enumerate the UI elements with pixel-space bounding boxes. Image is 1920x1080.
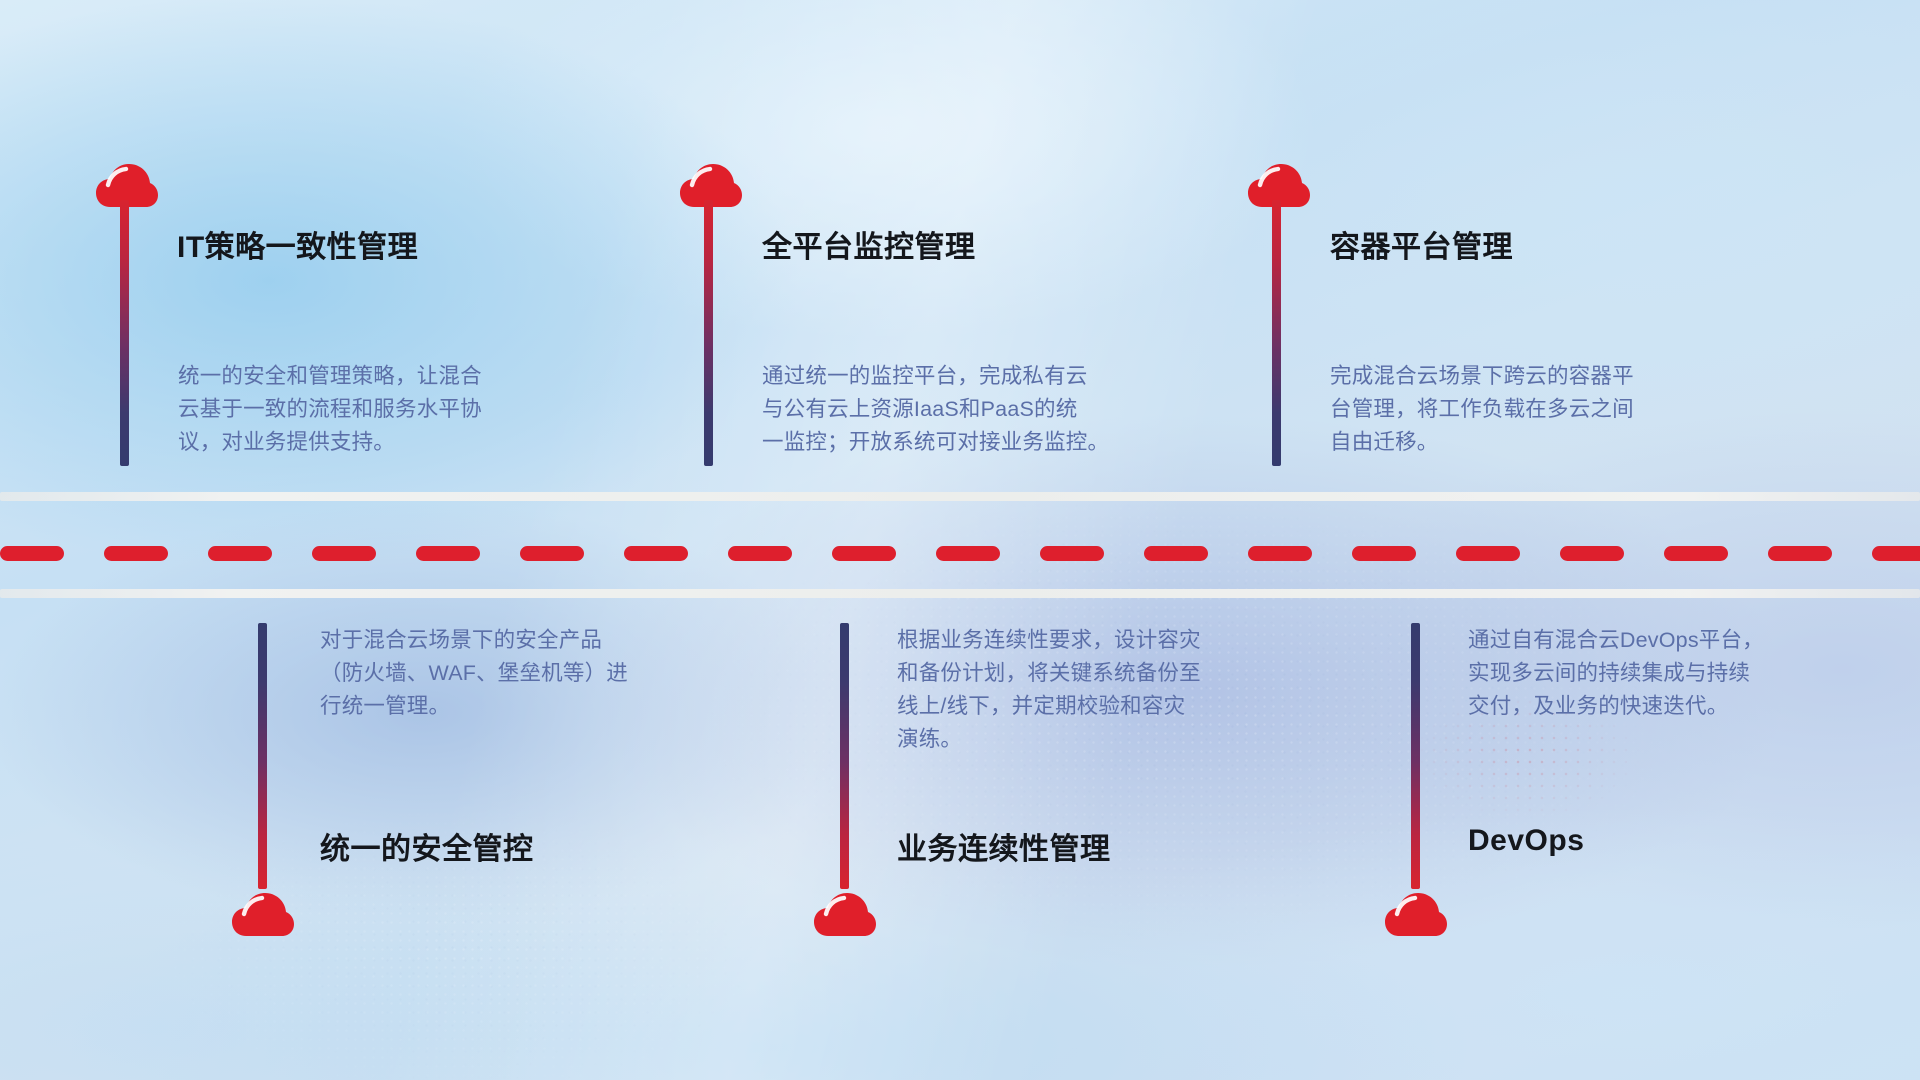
- road-dash: [104, 546, 168, 561]
- card-body-line: 线上/线下，并定期校验和容灾: [897, 690, 1347, 723]
- card-body-line: 对于混合云场景下的安全产品: [320, 624, 750, 657]
- road-dash: [624, 546, 688, 561]
- card-stem-bar: [1411, 623, 1420, 889]
- card-title: DevOps: [1468, 824, 1584, 858]
- card-body-line: 一监控；开放系统可对接业务监控。: [762, 426, 1222, 459]
- card-body: 对于混合云场景下的安全产品 （防火墙、WAF、堡垒机等）进 行统一管理。: [320, 624, 750, 723]
- road-dash: [936, 546, 1000, 561]
- road-dash: [1352, 546, 1416, 561]
- card-title: 业务连续性管理: [897, 824, 1111, 868]
- card-full-platform-monitoring: 全平台监控管理 通过统一的监控平台，完成私有云 与公有云上资源IaaS和PaaS…: [640, 0, 1280, 492]
- road-dash: [1664, 546, 1728, 561]
- card-unified-security: 对于混合云场景下的安全产品 （防火墙、WAF、堡垒机等）进 行统一管理。 统一的…: [0, 589, 740, 989]
- card-stem-bar: [258, 623, 267, 889]
- card-body-line: 行统一管理。: [320, 690, 750, 723]
- card-body-line: 台管理，将工作负载在多云之间: [1330, 393, 1770, 426]
- card-body-line: 通过自有混合云DevOps平台，: [1468, 624, 1908, 657]
- cloud-icon: [1385, 892, 1447, 938]
- road-dash: [1248, 546, 1312, 561]
- card-body-line: 实现多云间的持续集成与持续: [1468, 657, 1908, 690]
- card-body-line: 交付，及业务的快速迭代。: [1468, 690, 1908, 723]
- card-title: 容器平台管理: [1330, 222, 1513, 266]
- card-stem-bar: [120, 200, 129, 466]
- card-container-platform: 容器平台管理 完成混合云场景下跨云的容器平 台管理，将工作负载在多云之间 自由迁…: [1210, 0, 1920, 492]
- card-body: 根据业务连续性要求，设计容灾 和备份计划，将关键系统备份至 线上/线下，并定期校…: [897, 624, 1347, 756]
- card-body-line: （防火墙、WAF、堡垒机等）进: [320, 657, 750, 690]
- card-business-continuity: 根据业务连续性要求，设计容灾 和备份计划，将关键系统备份至 线上/线下，并定期校…: [740, 589, 1380, 989]
- road-dash: [1040, 546, 1104, 561]
- card-body-line: 与公有云上资源IaaS和PaaS的统: [762, 393, 1222, 426]
- card-body-line: 演练。: [897, 723, 1347, 756]
- card-stem-bar: [704, 200, 713, 466]
- card-body-line: 根据业务连续性要求，设计容灾: [897, 624, 1347, 657]
- card-body-line: 通过统一的监控平台，完成私有云: [762, 360, 1222, 393]
- card-body-line: 完成混合云场景下跨云的容器平: [1330, 360, 1770, 393]
- road-center-dashes: [0, 545, 1920, 561]
- road-dash: [312, 546, 376, 561]
- card-body-line: 统一的安全和管理策略，让混合: [178, 360, 618, 393]
- road-edge-upper: [0, 492, 1920, 501]
- card-stem-bar: [1272, 200, 1281, 466]
- road-dash: [1560, 546, 1624, 561]
- card-body-line: 自由迁移。: [1330, 426, 1770, 459]
- card-title: 统一的安全管控: [320, 824, 534, 868]
- road-dash: [0, 546, 64, 561]
- card-body-line: 和备份计划，将关键系统备份至: [897, 657, 1347, 690]
- card-body: 完成混合云场景下跨云的容器平 台管理，将工作负载在多云之间 自由迁移。: [1330, 360, 1770, 459]
- road-dash: [832, 546, 896, 561]
- card-body: 通过统一的监控平台，完成私有云 与公有云上资源IaaS和PaaS的统 一监控；开…: [762, 360, 1222, 459]
- road-dash: [1768, 546, 1832, 561]
- card-body-line: 云基于一致的流程和服务水平协: [178, 393, 618, 426]
- card-body: 通过自有混合云DevOps平台， 实现多云间的持续集成与持续 交付，及业务的快速…: [1468, 624, 1908, 723]
- road-dash: [728, 546, 792, 561]
- card-it-policy-consistency: IT策略一致性管理 统一的安全和管理策略，让混合 云基于一致的流程和服务水平协 …: [0, 0, 640, 492]
- card-body-line: 议，对业务提供支持。: [178, 426, 618, 459]
- road-dash: [1456, 546, 1520, 561]
- card-stem-bar: [840, 623, 849, 889]
- card-title: IT策略一致性管理: [177, 222, 418, 266]
- card-body: 统一的安全和管理策略，让混合 云基于一致的流程和服务水平协 议，对业务提供支持。: [178, 360, 618, 459]
- card-devops: 通过自有混合云DevOps平台， 实现多云间的持续集成与持续 交付，及业务的快速…: [1380, 589, 1920, 989]
- road-dash: [416, 546, 480, 561]
- road-dash: [1872, 546, 1920, 561]
- infographic-canvas: IT策略一致性管理 统一的安全和管理策略，让混合 云基于一致的流程和服务水平协 …: [0, 0, 1920, 1080]
- road-dash: [208, 546, 272, 561]
- card-title: 全平台监控管理: [762, 222, 976, 266]
- cloud-icon: [232, 892, 294, 938]
- road-dash: [1144, 546, 1208, 561]
- cloud-icon: [814, 892, 876, 938]
- road-dash: [520, 546, 584, 561]
